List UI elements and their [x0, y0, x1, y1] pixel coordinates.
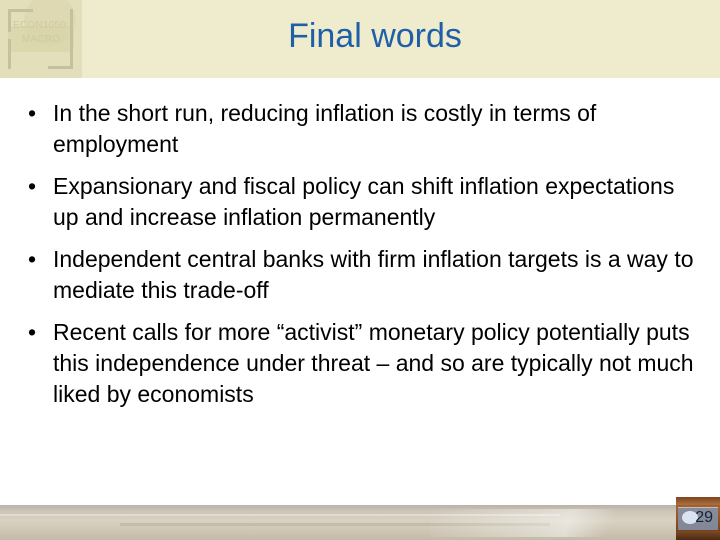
plate-frame-bottom [676, 531, 720, 540]
course-logo-watermark: ECON1050: MACRO [0, 0, 82, 78]
bullet-marker-icon: • [18, 98, 53, 129]
presentation-slide: ECON1050: MACRO Final words • In the sho… [0, 0, 720, 540]
list-item: • Expansionary and fiscal policy can shi… [18, 171, 708, 233]
list-item-text: In the short run, reducing inflation is … [53, 98, 708, 160]
slide-footer-band [0, 505, 720, 540]
slide-number: 29 [676, 508, 716, 528]
page-title: Final words [95, 14, 655, 58]
logo-course-name: MACRO [0, 33, 82, 47]
bullet-marker-icon: • [18, 244, 53, 275]
list-item: • Independent central banks with firm in… [18, 244, 708, 306]
logo-text: ECON1050: MACRO [0, 19, 82, 47]
list-item: • Recent calls for more “activist” monet… [18, 317, 708, 410]
logo-course-code: ECON1050: [0, 19, 82, 33]
slide-number-plate: 29 [676, 497, 720, 540]
plate-frame-top [676, 497, 720, 505]
slide-body-content: • In the short run, reducing inflation i… [18, 98, 708, 421]
list-item-text: Independent central banks with firm infl… [53, 244, 708, 306]
bullet-marker-icon: • [18, 171, 53, 202]
list-item-text: Recent calls for more “activist” monetar… [53, 317, 708, 410]
list-item: • In the short run, reducing inflation i… [18, 98, 708, 160]
bullet-marker-icon: • [18, 317, 53, 348]
list-item-text: Expansionary and fiscal policy can shift… [53, 171, 708, 233]
